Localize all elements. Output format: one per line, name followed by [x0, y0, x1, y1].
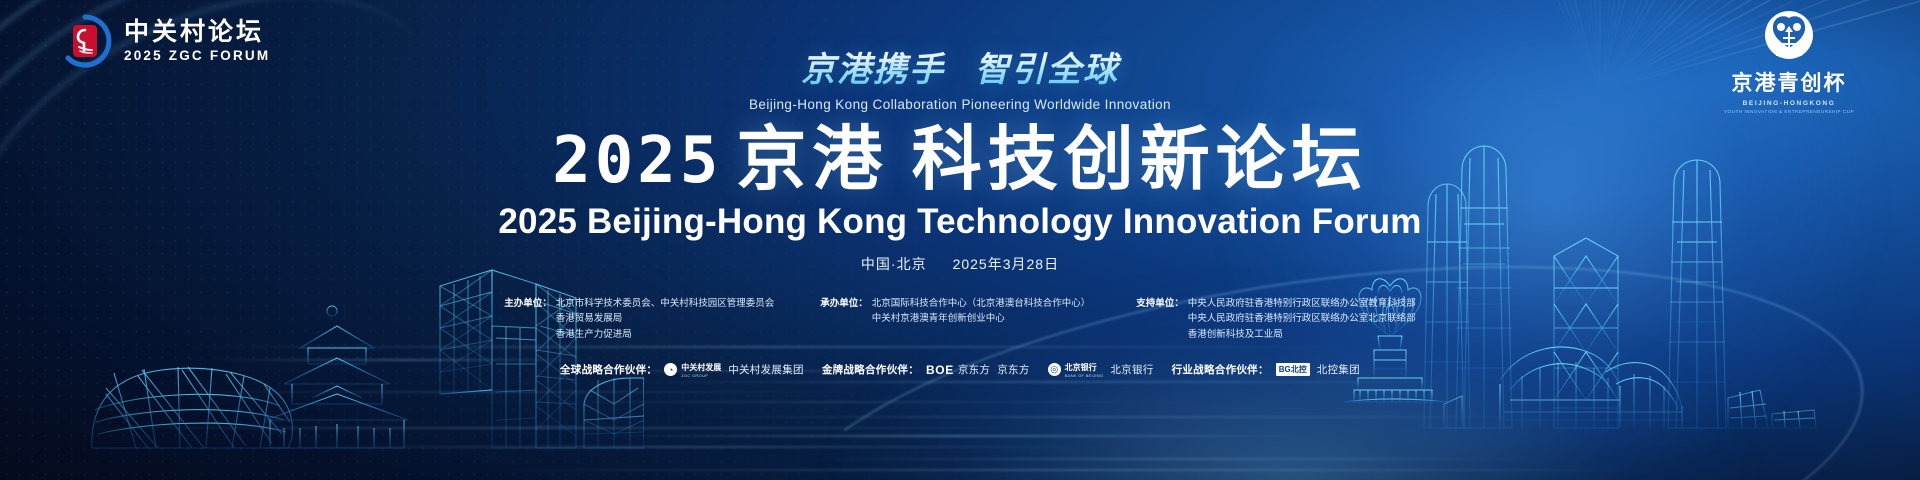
credit-line: 香港生产力促进局 [556, 327, 775, 342]
organizer-credits: 主办单位：北京市科学技术委员会、中关村科技园区管理委员会香港贸易发展局香港生产力… [0, 296, 1920, 342]
credit-lines: 中央人民政府驻香港特别行政区联络办公室教育科技部中央人民政府驻香港特别行政区联络… [1188, 296, 1416, 342]
partner-item[interactable]: 全球战略合作伙伴：◔中关村发展ZGC GROUP中关村发展集团 [560, 361, 804, 378]
partner-label: 金牌战略合作伙伴： [822, 362, 919, 377]
bg-logo-icon: BG北控 [1276, 363, 1310, 376]
partner-mark-sub: 京东方 [958, 362, 990, 377]
partner-item[interactable]: 行业战略合作伙伴：BG北控北控集团 [1172, 362, 1360, 377]
credit-line: 中关村京港澳青年创新创业中心 [872, 311, 1091, 326]
credit-lines: 北京市科学技术委员会、中关村科技园区管理委员会香港贸易发展局香港生产力促进局 [556, 296, 775, 342]
tagline-cn: 京港携手智引全球 [0, 42, 1920, 91]
banner-center-content: 京港携手智引全球 Beijing-Hong Kong Collaboration… [0, 0, 1920, 274]
credit-label: 主办单位： [504, 296, 552, 342]
tagline-en: Beijing-Hong Kong Collaboration Pioneeri… [0, 97, 1920, 112]
partner-item[interactable]: ◎北京银行BANK OF BEIJING北京银行 [1048, 361, 1154, 378]
partner-name: 北京银行 [1110, 362, 1153, 377]
partner-name: 京东方 [997, 362, 1029, 377]
partner-label: 全球战略合作伙伴： [560, 362, 657, 377]
credit-column: 主办单位：北京市科学技术委员会、中关村科技园区管理委员会香港贸易发展局香港生产力… [504, 296, 774, 342]
partner-mark-sub: ZGC GROUP [681, 373, 721, 378]
credit-line: 北京市科学技术委员会、中关村科技园区管理委员会 [556, 296, 775, 311]
credit-line: 中央人民政府驻香港特别行政区联络办公室教育科技部 [1188, 296, 1416, 311]
event-location: 中国·北京 [861, 254, 927, 274]
event-date: 2025年3月28日 [953, 254, 1060, 274]
main-title-cn: 2025 京港 科技创新论坛 [0, 126, 1920, 196]
partner-name: 中关村发展集团 [728, 362, 804, 377]
tagline-cn-part2: 智引全球 [975, 51, 1119, 89]
boe-logo-icon: BOE京东方 [926, 362, 990, 377]
partner-mark-badge: ◔ [664, 363, 677, 376]
credit-line: 香港贸易发展局 [556, 311, 775, 326]
partner-name: 北控集团 [1317, 362, 1360, 377]
credit-label: 支持单位： [1136, 296, 1184, 342]
credit-label: 承办单位： [820, 296, 868, 342]
bank-of-beijing-logo-icon: ◎北京银行BANK OF BEIJING [1048, 361, 1104, 378]
title-year: 2025 [552, 129, 722, 193]
forum-banner: 中关村论坛 2025 ZGC FORUM 京港青创杯 BEIJING-HONGK… [0, 0, 1920, 480]
event-meta: 中国·北京 2025年3月28日 [861, 254, 1059, 274]
partner-mark-text: BG北控 [1276, 363, 1310, 376]
zgc-group-logo-icon: ◔中关村发展ZGC GROUP [664, 361, 721, 378]
partner-mark-text: 北京银行 [1065, 363, 1097, 372]
credit-line: 中央人民政府驻香港特别行政区联络办公室北京联络部 [1188, 311, 1416, 326]
partner-label: 行业战略合作伙伴： [1172, 362, 1269, 377]
partner-row: 全球战略合作伙伴：◔中关村发展ZGC GROUP中关村发展集团金牌战略合作伙伴：… [0, 361, 1920, 378]
partner-mark-sub: BANK OF BEIJING [1065, 373, 1104, 378]
tagline-cn-part1: 京港携手 [801, 51, 945, 89]
credit-column: 承办单位：北京国际科技合作中心（北京港澳台科技合作中心）中关村京港澳青年创新创业… [820, 296, 1090, 342]
partner-mark-badge: ◎ [1048, 363, 1061, 376]
credit-lines: 北京国际科技合作中心（北京港澳台科技合作中心）中关村京港澳青年创新创业中心 [872, 296, 1091, 342]
main-title-en: 2025 Beijing-Hong Kong Technology Innova… [0, 202, 1920, 242]
partner-mark-text: 中关村发展 [681, 363, 721, 372]
credit-column: 支持单位：中央人民政府驻香港特别行政区联络办公室教育科技部中央人民政府驻香港特别… [1136, 296, 1416, 342]
partner-item[interactable]: 金牌战略合作伙伴：BOE京东方京东方 [822, 362, 1030, 377]
credit-line: 北京国际科技合作中心（北京港澳台科技合作中心） [872, 296, 1091, 311]
partner-mark-text: BOE [926, 363, 954, 377]
title-cn-text: 京港 科技创新论坛 [736, 126, 1368, 196]
credit-line: 香港创新科技及工业局 [1188, 327, 1416, 342]
